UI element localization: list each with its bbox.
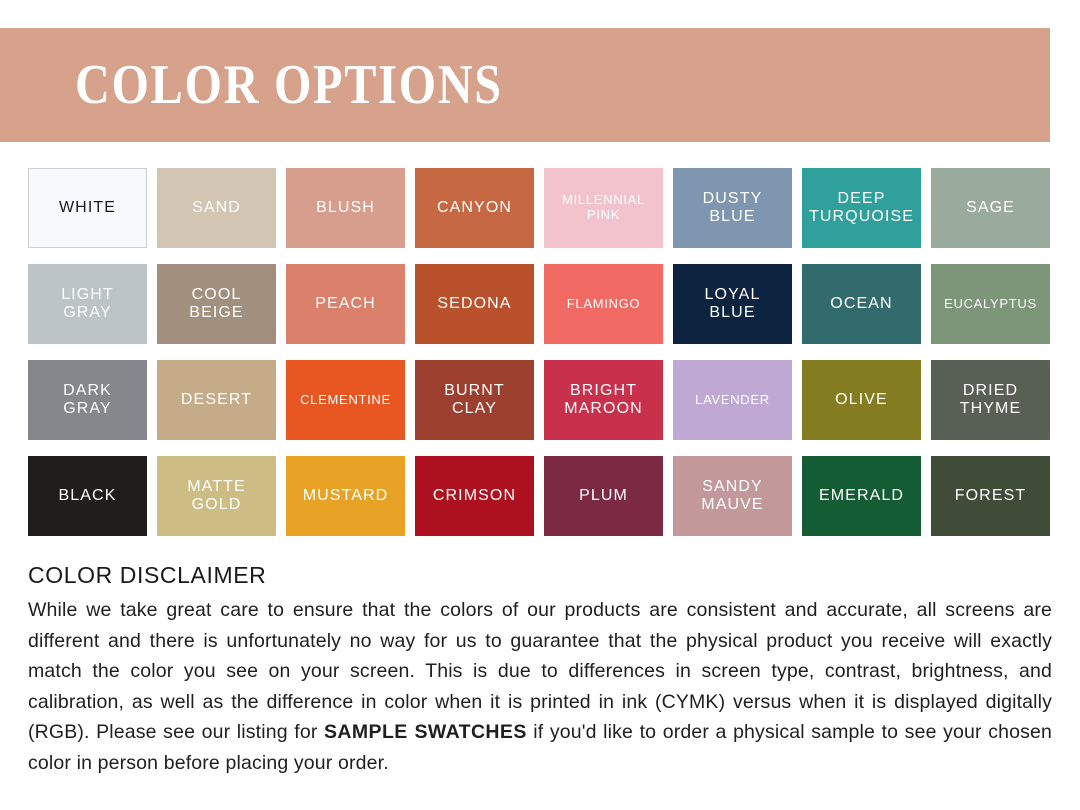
color-swatch-label: LAVENDER bbox=[691, 393, 774, 408]
color-swatch[interactable]: COOL BEIGE bbox=[157, 264, 276, 344]
color-swatch[interactable]: OLIVE bbox=[802, 360, 921, 440]
color-swatch-label: DEEP TURQUOISE bbox=[805, 190, 918, 226]
color-swatch[interactable]: FLAMINGO bbox=[544, 264, 663, 344]
color-swatch-label: SAND bbox=[188, 199, 245, 217]
color-swatch[interactable]: DRIED THYME bbox=[931, 360, 1050, 440]
color-swatch-label: SAGE bbox=[962, 199, 1019, 217]
color-swatch[interactable]: LAVENDER bbox=[673, 360, 792, 440]
color-swatch[interactable]: CANYON bbox=[415, 168, 534, 248]
color-swatch-label: BURNT CLAY bbox=[440, 382, 509, 418]
color-swatch-label: CANYON bbox=[433, 199, 516, 217]
color-swatch[interactable]: DARK GRAY bbox=[28, 360, 147, 440]
color-swatch-label: OCEAN bbox=[826, 295, 896, 313]
color-swatch[interactable]: MILLENNIAL PINK bbox=[544, 168, 663, 248]
color-swatch[interactable]: WHITE bbox=[28, 168, 147, 248]
swatch-grid: WHITESANDBLUSHCANYONMILLENNIAL PINKDUSTY… bbox=[28, 168, 1050, 536]
color-swatch-label: DARK GRAY bbox=[59, 382, 116, 418]
color-swatch[interactable]: BLUSH bbox=[286, 168, 405, 248]
color-swatch-label: EUCALYPTUS bbox=[940, 297, 1041, 312]
color-swatch[interactable]: MATTE GOLD bbox=[157, 456, 276, 536]
color-swatch[interactable]: SANDY MAUVE bbox=[673, 456, 792, 536]
color-swatch[interactable]: DEEP TURQUOISE bbox=[802, 168, 921, 248]
disclaimer-title: COLOR DISCLAIMER bbox=[28, 562, 1052, 589]
color-swatch-label: BLACK bbox=[55, 487, 121, 505]
color-swatch-label: LOYAL BLUE bbox=[701, 286, 765, 322]
color-swatch[interactable]: BURNT CLAY bbox=[415, 360, 534, 440]
color-swatch[interactable]: PLUM bbox=[544, 456, 663, 536]
disclaimer-body: While we take great care to ensure that … bbox=[28, 595, 1052, 778]
disclaimer-section: COLOR DISCLAIMER While we take great car… bbox=[28, 562, 1052, 778]
color-swatch[interactable]: FOREST bbox=[931, 456, 1050, 536]
color-swatch[interactable]: LOYAL BLUE bbox=[673, 264, 792, 344]
color-swatch-label: DESERT bbox=[177, 391, 256, 409]
color-swatch-label: DUSTY BLUE bbox=[699, 190, 767, 226]
color-options-page: COLOR OPTIONS WHITESANDBLUSHCANYONMILLEN… bbox=[0, 0, 1080, 810]
color-swatch-label: MATTE GOLD bbox=[183, 478, 250, 514]
color-swatch-label: SANDY MAUVE bbox=[697, 478, 767, 514]
color-swatch[interactable]: DUSTY BLUE bbox=[673, 168, 792, 248]
color-swatch-label: CLEMENTINE bbox=[296, 393, 395, 408]
color-swatch-label: MUSTARD bbox=[299, 487, 393, 505]
color-swatch-label: DRIED THYME bbox=[956, 382, 1026, 418]
color-swatch-label: EMERALD bbox=[815, 487, 908, 505]
color-swatch[interactable]: SAND bbox=[157, 168, 276, 248]
color-swatch-label: OLIVE bbox=[831, 391, 892, 409]
color-swatch-label: WHITE bbox=[55, 199, 120, 217]
color-swatch-label: BLUSH bbox=[312, 199, 379, 217]
color-swatch-label: FOREST bbox=[951, 487, 1031, 505]
color-swatch-label: FLAMINGO bbox=[563, 297, 645, 312]
color-swatch-label: BRIGHT MAROON bbox=[560, 382, 647, 418]
color-swatch[interactable]: SEDONA bbox=[415, 264, 534, 344]
color-swatch-label: CRIMSON bbox=[429, 487, 520, 505]
color-swatch[interactable]: PEACH bbox=[286, 264, 405, 344]
color-swatch[interactable]: OCEAN bbox=[802, 264, 921, 344]
color-swatch[interactable]: DESERT bbox=[157, 360, 276, 440]
color-swatch[interactable]: EMERALD bbox=[802, 456, 921, 536]
color-swatch-label: COOL BEIGE bbox=[185, 286, 247, 322]
color-swatch-label: LIGHT GRAY bbox=[57, 286, 118, 322]
color-swatch[interactable]: CLEMENTINE bbox=[286, 360, 405, 440]
color-swatch-label: SEDONA bbox=[433, 295, 515, 313]
sample-swatches-emphasis: SAMPLE SWATCHES bbox=[324, 721, 527, 743]
color-swatch-label: PEACH bbox=[311, 295, 380, 313]
color-swatch-label: PLUM bbox=[575, 487, 632, 505]
color-swatch[interactable]: BRIGHT MAROON bbox=[544, 360, 663, 440]
color-swatch[interactable]: SAGE bbox=[931, 168, 1050, 248]
color-swatch[interactable]: EUCALYPTUS bbox=[931, 264, 1050, 344]
color-swatch[interactable]: CRIMSON bbox=[415, 456, 534, 536]
color-swatch[interactable]: BLACK bbox=[28, 456, 147, 536]
color-swatch[interactable]: LIGHT GRAY bbox=[28, 264, 147, 344]
color-swatch[interactable]: MUSTARD bbox=[286, 456, 405, 536]
color-swatch-label: MILLENNIAL PINK bbox=[558, 193, 649, 222]
page-title: COLOR OPTIONS bbox=[75, 57, 503, 113]
header-banner: COLOR OPTIONS bbox=[0, 28, 1050, 142]
